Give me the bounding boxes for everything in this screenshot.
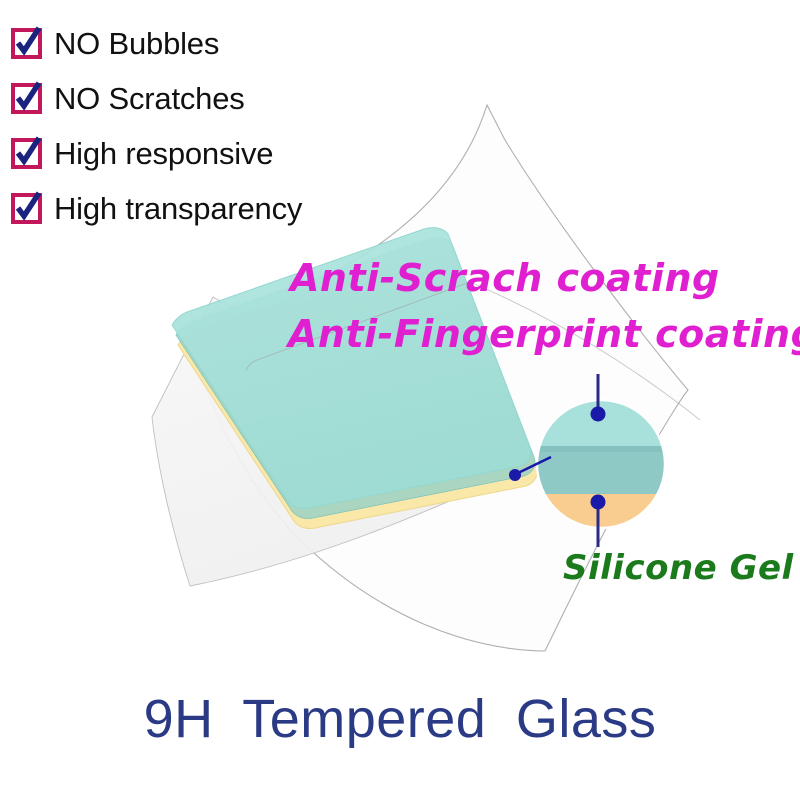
feature-item: High responsive [8,126,408,181]
feature-label: NO Bubbles [54,28,219,59]
coating-callout-pointer [591,374,606,422]
magnifier-leader-line [509,457,551,481]
checked-checkbox-icon [11,83,42,114]
magnifier-ring [537,400,665,528]
checked-checkbox-icon [11,138,42,169]
silicone-gel-annotation: Silicone Gel [563,551,794,585]
feature-label: High transparency [54,193,302,224]
feature-label: NO Scratches [54,83,245,114]
feature-checklist: NO Bubbles NO Scratches High responsive [8,16,408,236]
feature-item: High transparency [8,181,408,236]
feature-label: High responsive [54,138,273,169]
silicone-gel-callout-pointer [591,495,606,548]
checked-checkbox-icon [11,28,42,59]
feature-item: NO Scratches [8,71,408,126]
magnified-cross-section [537,400,665,534]
feature-item: NO Bubbles [8,16,408,71]
anti-fingerprint-annotation: Anti-Fingerprint coating [288,315,800,353]
anti-scratch-annotation: Anti-Scrach coating [290,259,720,297]
checked-checkbox-icon [11,193,42,224]
product-title: 9H Tempered Glass [0,688,800,750]
infographic-canvas: NO Bubbles NO Scratches High responsive [0,0,800,800]
